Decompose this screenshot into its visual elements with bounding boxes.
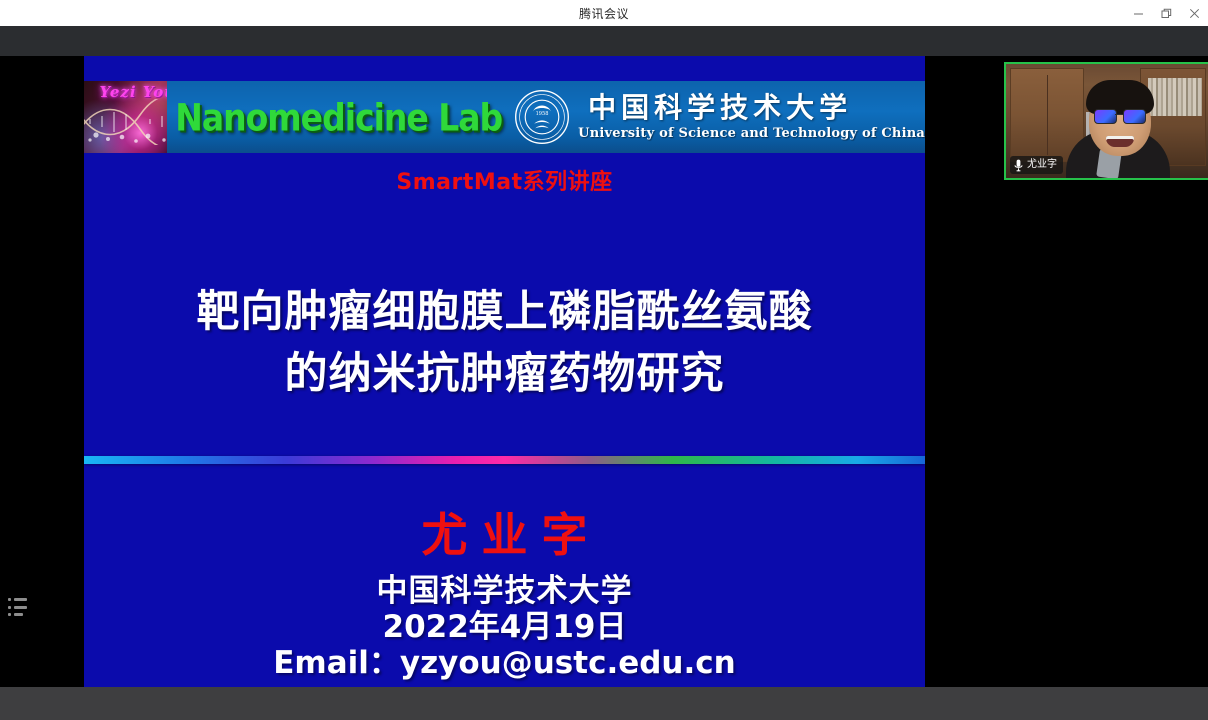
list-icon-bar [14, 598, 27, 601]
list-icon-dot [8, 598, 11, 601]
close-icon [1189, 8, 1200, 19]
window-title: 腾讯会议 [579, 5, 629, 22]
close-button[interactable] [1180, 0, 1208, 26]
affiliation-text: 中国科学技术大学 [84, 574, 925, 610]
gradient-divider [84, 456, 925, 464]
list-icon-row [8, 606, 28, 609]
speaker-name: 尤业字 [84, 499, 925, 565]
person-mouth [1106, 136, 1134, 147]
date-text: 2022年4月19日 [84, 610, 925, 646]
meeting-stage: Yezi You Group Nanomedicine Lab 1958 [0, 26, 1208, 720]
lab-banner-panel: Nanomedicine Lab 1958 中国科学技术大学 Universit… [167, 81, 925, 153]
university-name-cn: 中国科学技术大学 [588, 94, 925, 122]
list-icon-bar [14, 606, 27, 609]
window-controls [1124, 0, 1208, 26]
email-text: Email：yzyou@ustc.edu.cn [84, 646, 925, 682]
group-logo-panel: Yezi You Group [84, 81, 167, 153]
participant-video-tile[interactable]: 尤业字 [1004, 62, 1208, 180]
participants-list-icon[interactable] [8, 598, 28, 616]
glasses-lens-right [1123, 109, 1146, 124]
list-icon-row [8, 613, 28, 616]
restore-button[interactable] [1152, 0, 1180, 26]
svg-text:1958: 1958 [536, 111, 549, 117]
slide-banner: Yezi You Group Nanomedicine Lab 1958 [84, 81, 925, 153]
dna-helix-icon [84, 99, 167, 145]
university-name-en: University of Science and Technology of … [578, 126, 925, 141]
list-icon-row [8, 598, 28, 601]
window-title-bar: 腾讯会议 [0, 0, 1208, 27]
lab-name-text: Nanomedicine Lab [175, 99, 502, 136]
mic-icon [1014, 159, 1023, 172]
ustc-logo-icon: 1958 [514, 89, 570, 145]
presentation-slide: Yezi You Group Nanomedicine Lab 1958 [84, 56, 925, 711]
participant-name: 尤业字 [1027, 160, 1057, 170]
list-icon-dot [8, 606, 11, 609]
participant-name-badge: 尤业字 [1010, 156, 1063, 174]
list-icon-bar [14, 613, 23, 616]
list-icon-dot [8, 613, 11, 616]
slide-title-line-2: 的纳米抗肿瘤药物研究 [84, 343, 925, 405]
restore-icon [1161, 8, 1172, 19]
slide-footer: 中国科学技术大学 2022年4月19日 Email：yzyou@ustc.edu… [84, 574, 925, 682]
shared-screen-content[interactable]: Yezi You Group Nanomedicine Lab 1958 [84, 56, 925, 711]
slide-title-line-1: 靶向肿瘤细胞膜上磷脂酰丝氨酸 [84, 281, 925, 343]
minimize-button[interactable] [1124, 0, 1152, 26]
background-bookshelf [1148, 78, 1202, 116]
group-logo-text: Yezi You Group [84, 83, 167, 101]
slide-title: 靶向肿瘤细胞膜上磷脂酰丝氨酸 的纳米抗肿瘤药物研究 [84, 281, 925, 406]
glasses-lens-left [1094, 109, 1117, 124]
person-glasses [1094, 109, 1146, 122]
series-label: SmartMat系列讲座 [84, 164, 925, 196]
stage-top-strip [0, 26, 1208, 56]
university-name-block: 中国科学技术大学 University of Science and Techn… [578, 94, 925, 141]
minimize-icon [1133, 8, 1144, 19]
bottom-toolbar [0, 687, 1208, 720]
